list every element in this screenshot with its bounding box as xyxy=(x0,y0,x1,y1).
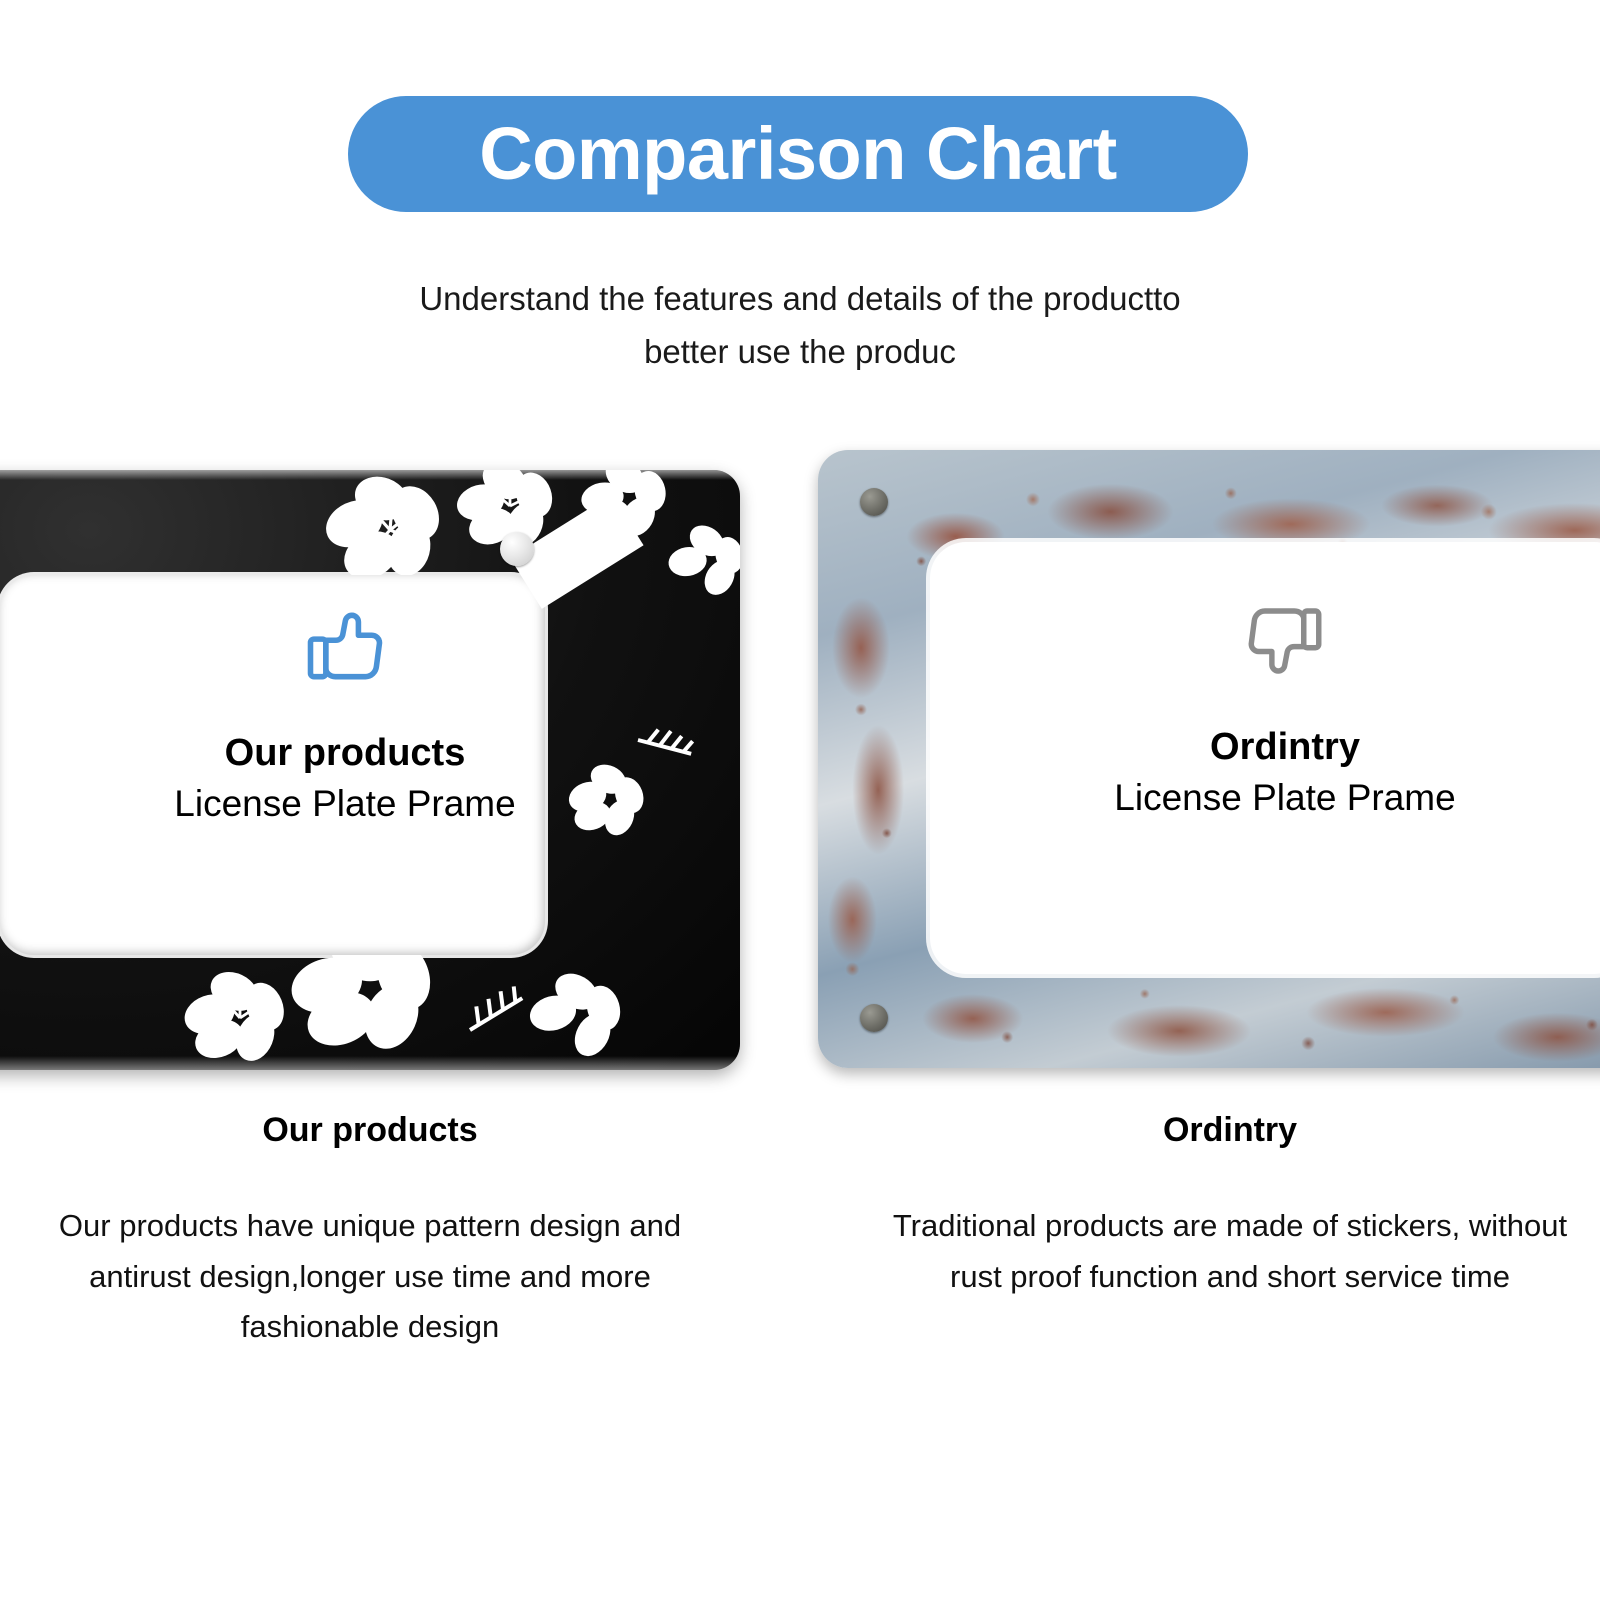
rusty-frame-screw-hole-bottom-left xyxy=(860,1004,888,1032)
ordinary-product-description-heading: Ordintry xyxy=(880,1112,1580,1149)
page-title: Comparison Chart xyxy=(479,117,1117,191)
ordinary-product-card: Ordintry License Plate Prame xyxy=(1035,596,1535,820)
thumbs-up-icon xyxy=(299,600,391,692)
ordinary-product-description-column: Ordintry Traditional products are made o… xyxy=(880,1112,1580,1302)
plate-bevel-top xyxy=(0,470,740,480)
our-product-subheading: License Plate Prame xyxy=(100,782,590,826)
plate-bevel-bottom xyxy=(0,1056,740,1070)
plate-screw-hole xyxy=(500,532,534,566)
ordinary-product-description-body: Traditional products are made of sticker… xyxy=(880,1201,1580,1301)
our-product-card: Our products License Plate Prame xyxy=(100,600,590,826)
thumbs-down-icon xyxy=(1240,596,1330,686)
ordinary-product-heading: Ordintry xyxy=(1035,726,1535,770)
ordinary-product-subheading: License Plate Prame xyxy=(1035,776,1535,820)
our-product-description-body: Our products have unique pattern design … xyxy=(20,1201,720,1352)
title-banner: Comparison Chart xyxy=(348,96,1248,212)
subtitle: Understand the features and details of t… xyxy=(300,272,1300,379)
subtitle-line-2: better use the produc xyxy=(300,325,1300,378)
our-product-heading: Our products xyxy=(100,732,590,776)
subtitle-line-1: Understand the features and details of t… xyxy=(300,272,1300,325)
rusty-frame-screw-hole-top-left xyxy=(860,488,888,516)
our-product-description-heading: Our products xyxy=(20,1112,720,1149)
our-product-description-column: Our products Our products have unique pa… xyxy=(20,1112,720,1352)
